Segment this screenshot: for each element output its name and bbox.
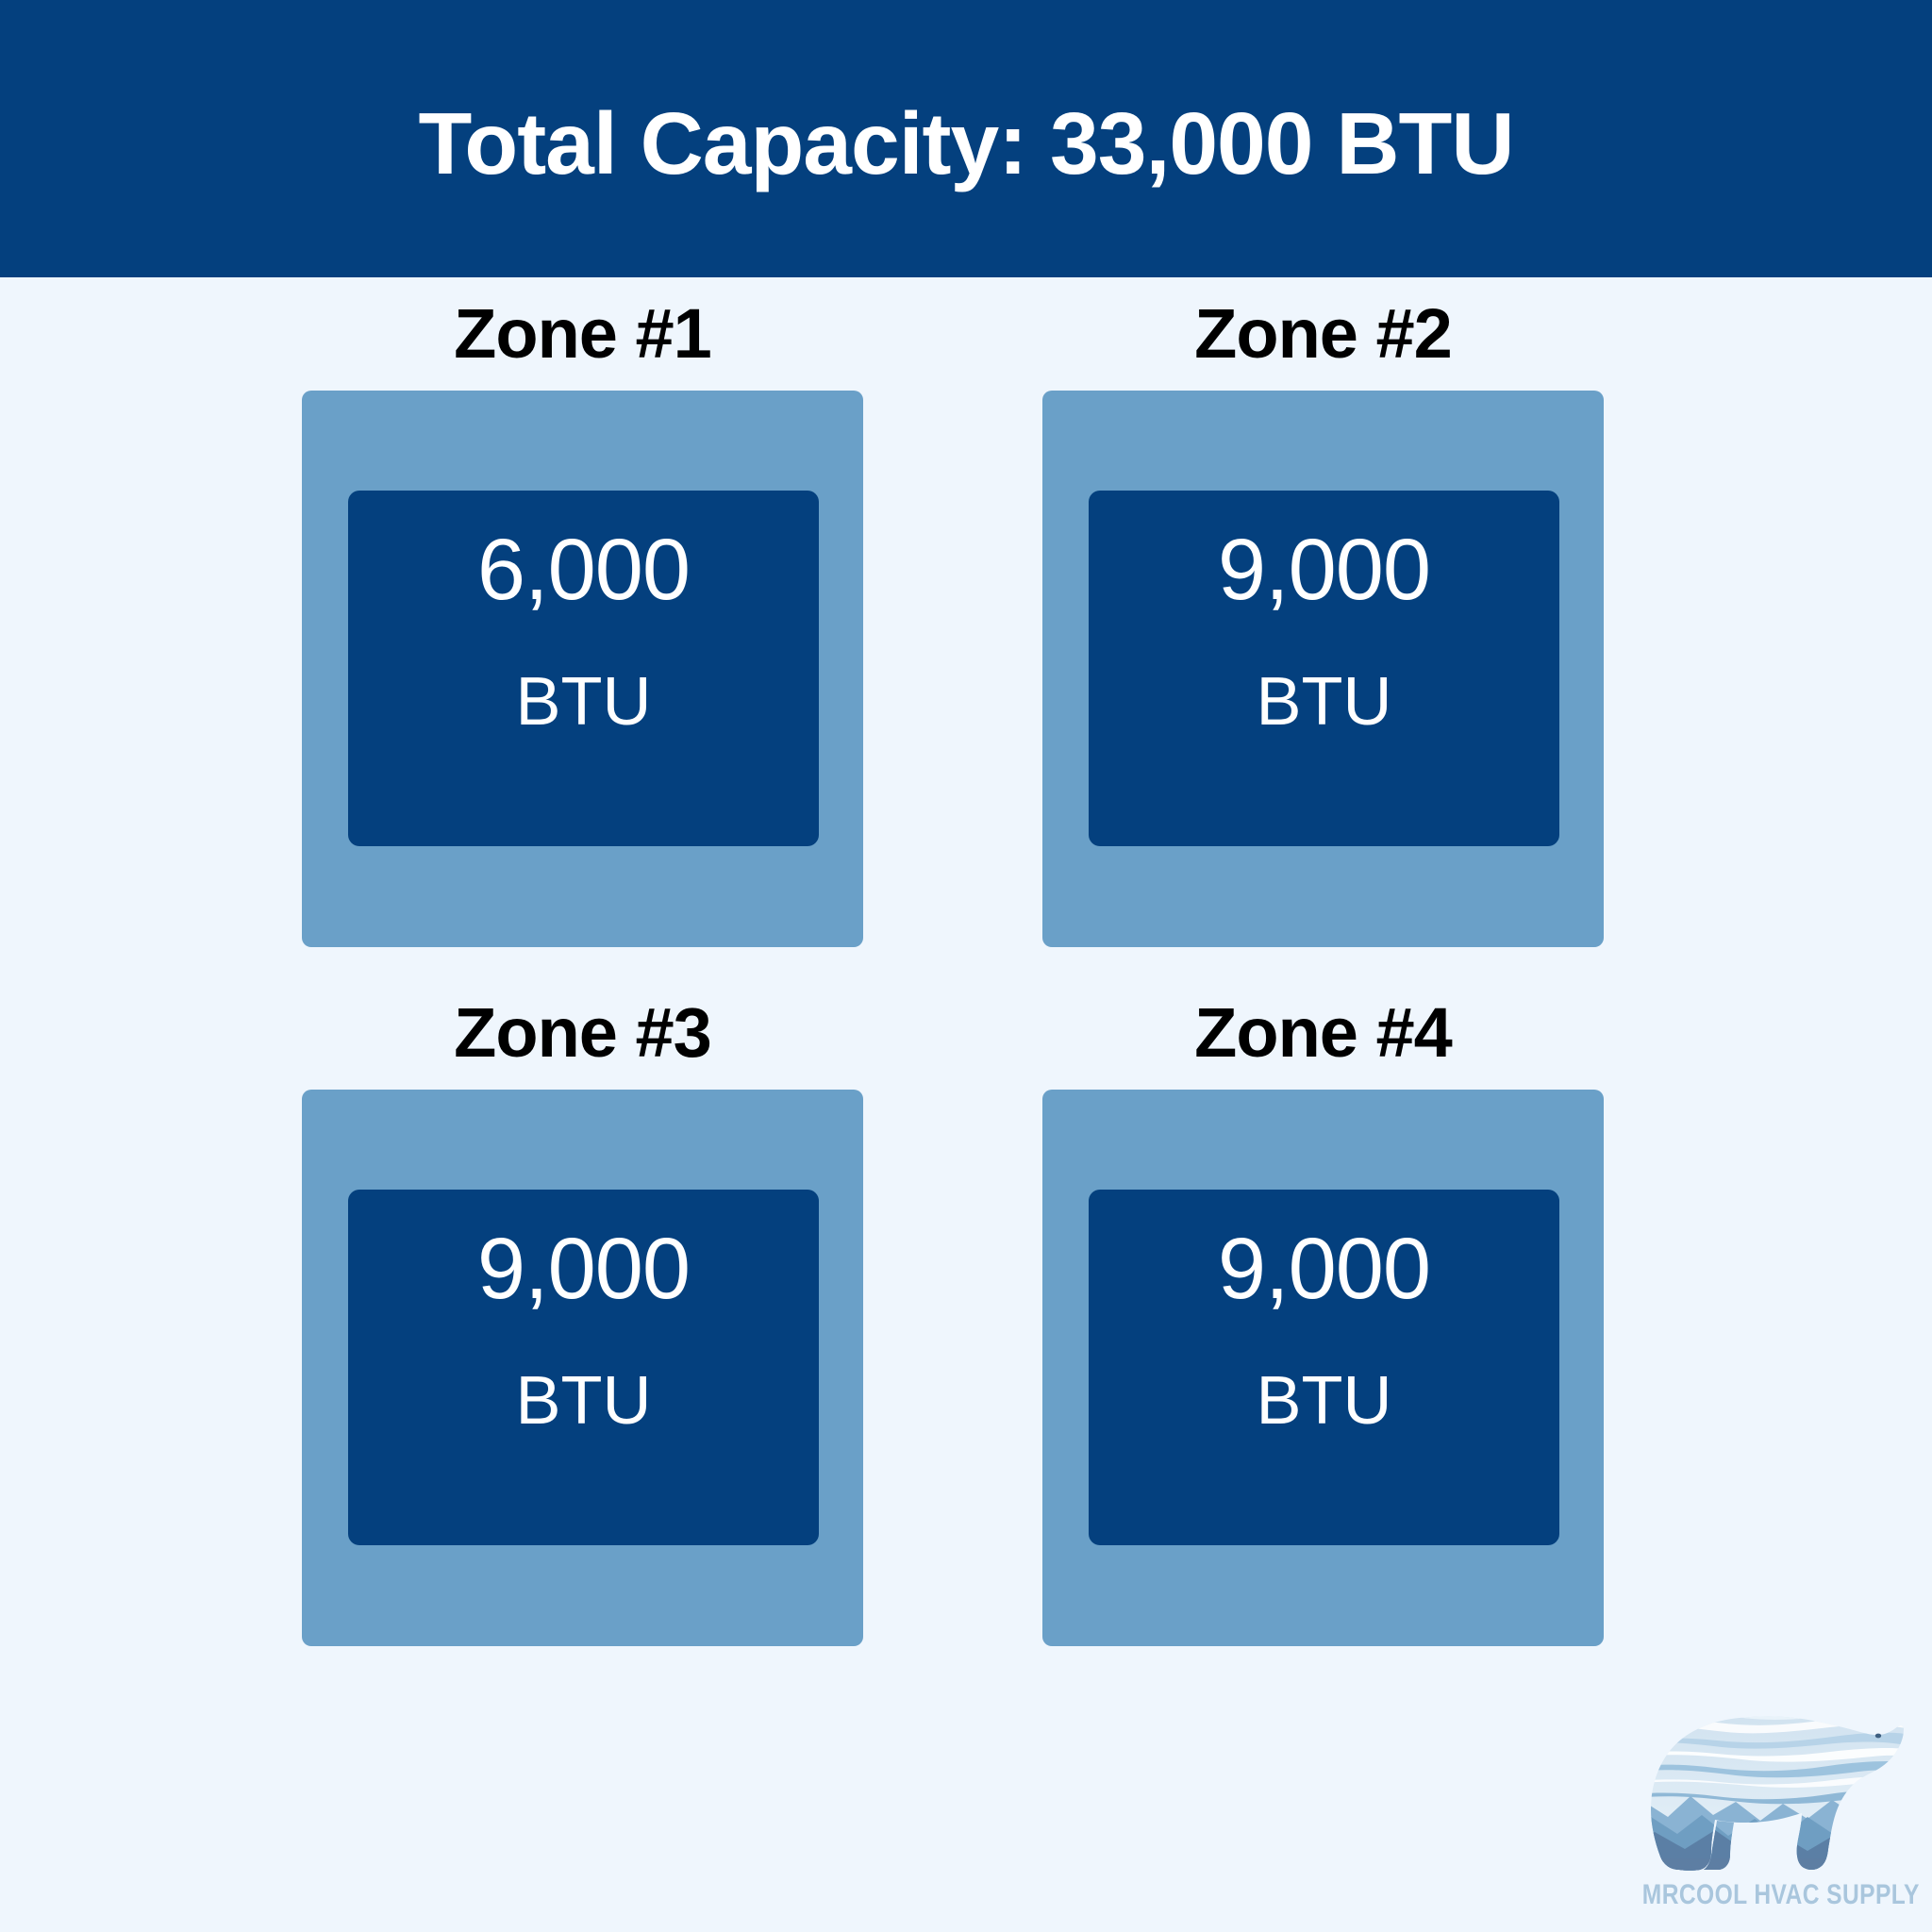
zone-card-4: 9,000 BTU	[1042, 1090, 1604, 1646]
zone-label-1: Zone #1	[302, 277, 863, 391]
zone-unit-1: BTU	[516, 668, 652, 736]
zone-card-3: 9,000 BTU	[302, 1090, 863, 1646]
zone-capacity-panel-4: 9,000 BTU	[1089, 1190, 1559, 1545]
header-bar: Total Capacity: 33,000 BTU	[0, 0, 1932, 277]
zone-capacity-panel-2: 9,000 BTU	[1089, 491, 1559, 846]
zone-unit-2: BTU	[1257, 668, 1392, 736]
brand-logo: MRCOOL HVAC SUPPLY	[1615, 1698, 1917, 1923]
polar-bear-icon	[1623, 1698, 1906, 1874]
zone-unit-4: BTU	[1257, 1367, 1392, 1435]
zone-value-3: 9,000	[477, 1225, 690, 1314]
zone-label-3: Zone #3	[302, 976, 863, 1090]
zone-cell-1: Zone #1 6,000 BTU	[302, 277, 863, 947]
zone-card-2: 9,000 BTU	[1042, 391, 1604, 947]
zone-grid: Zone #1 6,000 BTU Zone #2 9,000 BTU Zone…	[0, 277, 1932, 1932]
zone-unit-3: BTU	[516, 1367, 652, 1435]
zone-card-1: 6,000 BTU	[302, 391, 863, 947]
brand-wordmark: MRCOOL HVAC SUPPLY	[1642, 1879, 1890, 1911]
zone-cell-3: Zone #3 9,000 BTU	[302, 976, 863, 1646]
zone-value-1: 6,000	[477, 526, 690, 615]
zone-capacity-panel-1: 6,000 BTU	[348, 491, 819, 846]
page-title: Total Capacity: 33,000 BTU	[419, 100, 1514, 188]
zone-cell-4: Zone #4 9,000 BTU	[1042, 976, 1604, 1646]
zone-cell-2: Zone #2 9,000 BTU	[1042, 277, 1604, 947]
zone-label-2: Zone #2	[1042, 277, 1604, 391]
zone-value-4: 9,000	[1218, 1225, 1430, 1314]
zone-value-2: 9,000	[1218, 526, 1430, 615]
zone-label-4: Zone #4	[1042, 976, 1604, 1090]
zone-capacity-panel-3: 9,000 BTU	[348, 1190, 819, 1545]
